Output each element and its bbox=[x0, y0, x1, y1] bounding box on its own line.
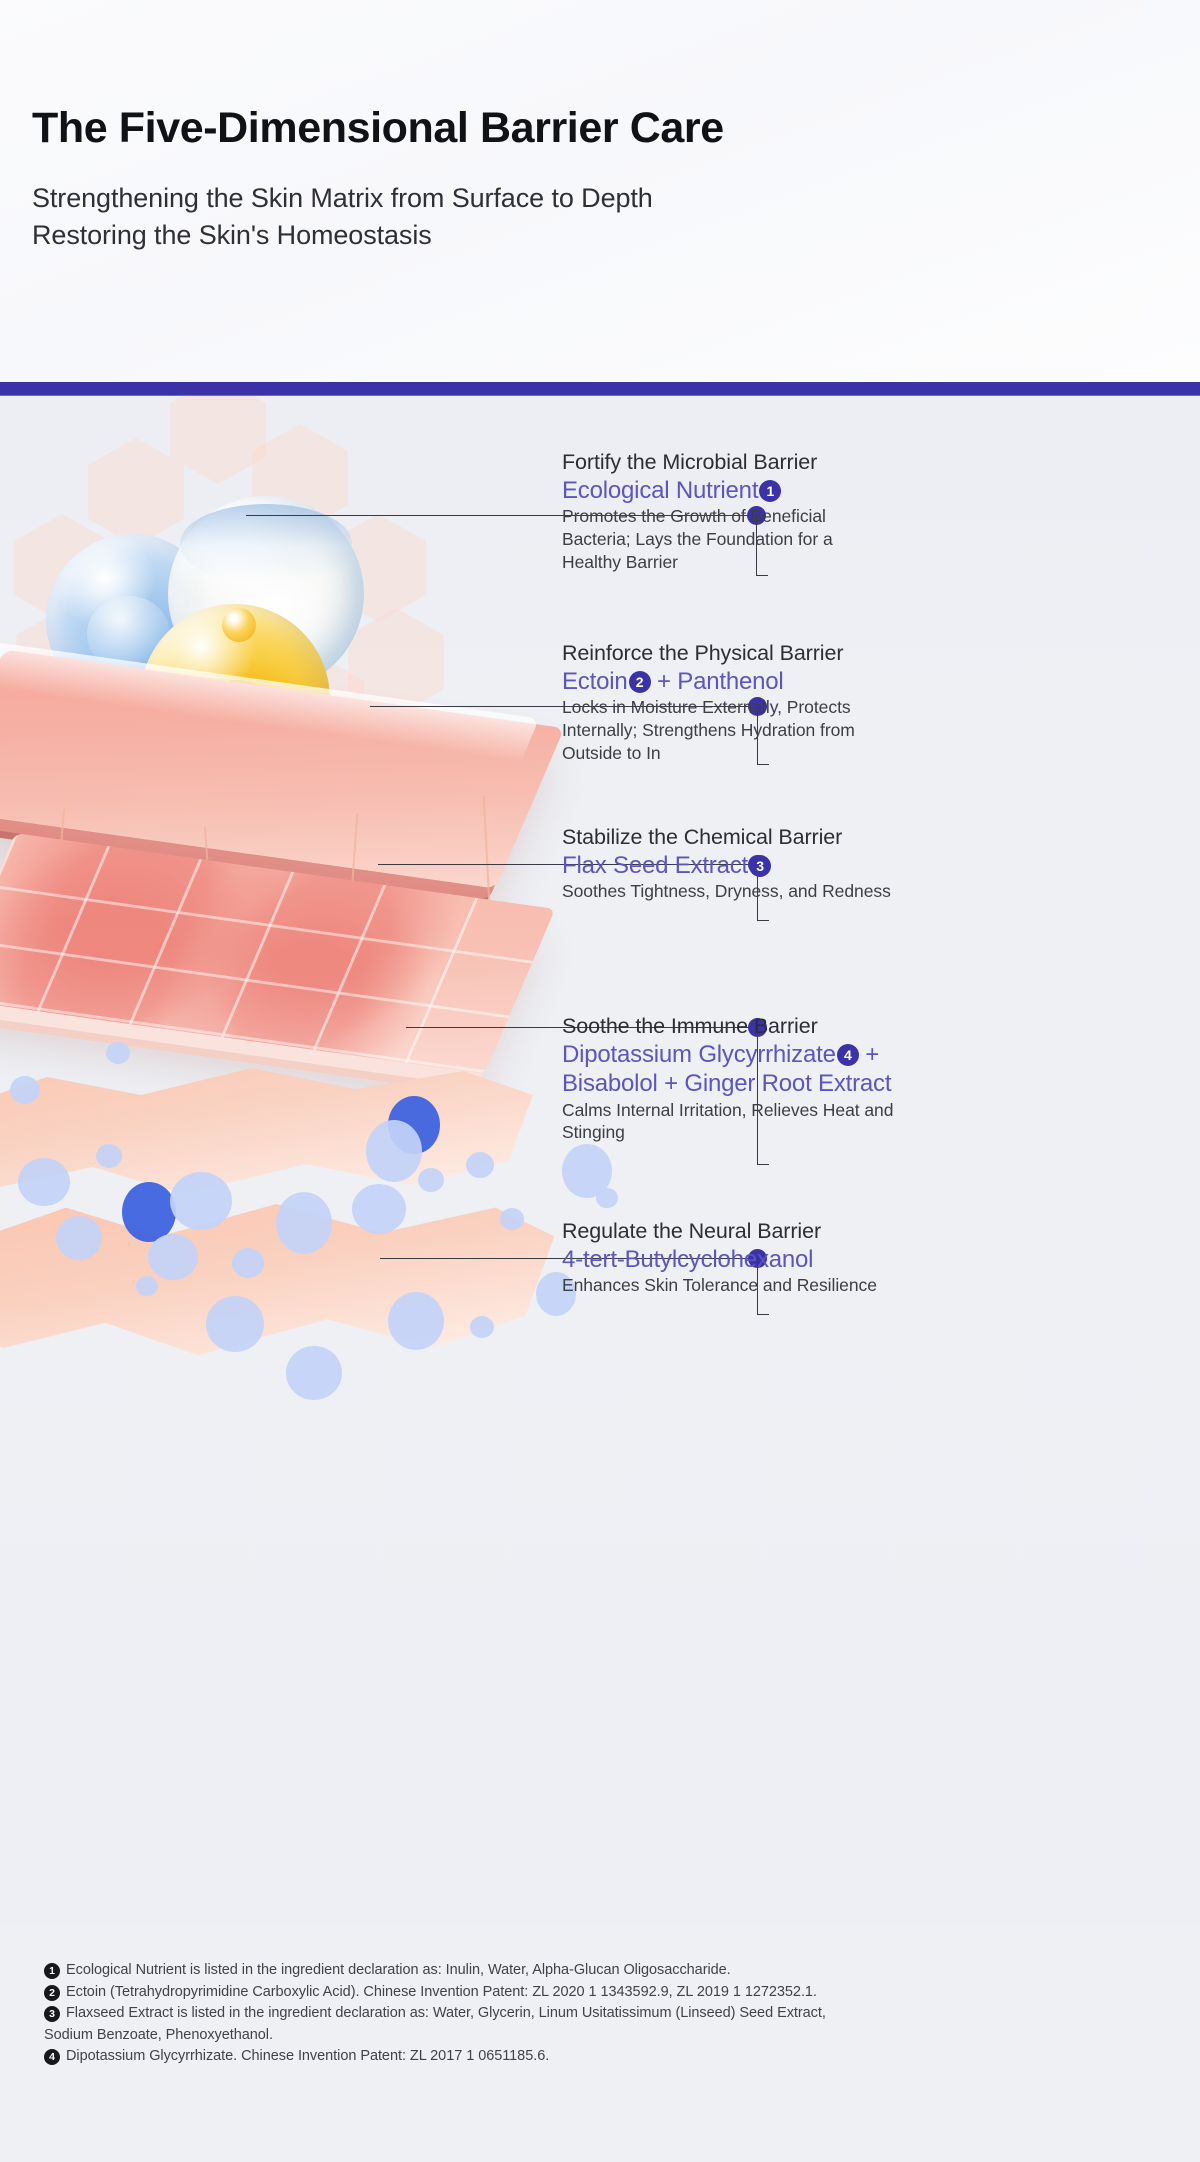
immune-cell bbox=[170, 1172, 232, 1230]
footnote-badge-1: 1 bbox=[759, 480, 781, 502]
footnote-row: 2 Ectoin (Tetrahydropyrimidine Carboxyli… bbox=[44, 1982, 1156, 2003]
footnote-row: 3 Flaxseed Extract is listed in the ingr… bbox=[44, 2003, 1156, 2024]
immune-cell bbox=[500, 1208, 524, 1230]
footnote-number: 1 bbox=[44, 1963, 60, 1979]
callout-ingredient: Dipotassium Glycyrrhizate4 + Bisabolol +… bbox=[562, 1040, 912, 1099]
illustration-stage: Fortify the Microbial Barrier Ecological… bbox=[0, 396, 1200, 1926]
footnote-row: 4 Dipotassium Glycyrrhizate. Chinese Inv… bbox=[44, 2046, 1156, 2067]
callout-heading: Soothe the Immune Barrier bbox=[562, 1013, 912, 1040]
immune-cell bbox=[136, 1276, 158, 1296]
footnote-row-continuation: Sodium Benzoate, Phenoxyethanol. bbox=[44, 2025, 1156, 2046]
infographic-page: The Five-Dimensional Barrier Care Streng… bbox=[0, 0, 1200, 2162]
callout-ingredient: Ecological Nutrient1 bbox=[562, 476, 892, 505]
hexagon-shape bbox=[88, 438, 184, 546]
footnote-text: Ectoin (Tetrahydropyrimidine Carboxylic … bbox=[66, 1982, 817, 2003]
callout-description: Soothes Tightness, Dryness, and Redness bbox=[562, 880, 902, 903]
callout-text-group: Regulate the Neural Barrier 4-tert-Butyl… bbox=[562, 1218, 902, 1297]
immune-cell bbox=[10, 1076, 40, 1104]
ingredient-name: Dipotassium Glycyrrhizate bbox=[562, 1041, 836, 1068]
immune-cell bbox=[466, 1152, 494, 1178]
leader-bracket-foot bbox=[757, 1164, 769, 1165]
leader-bracket-foot bbox=[756, 575, 768, 576]
immune-cell bbox=[596, 1188, 618, 1208]
hypodermis-wave-upper bbox=[0, 1056, 547, 1206]
immune-cell bbox=[56, 1216, 102, 1260]
callout-heading: Fortify the Microbial Barrier bbox=[562, 449, 892, 476]
callout-description: Calms Internal Irritation, Relieves Heat… bbox=[562, 1099, 912, 1145]
immune-cell bbox=[276, 1192, 332, 1254]
footnote-number: 3 bbox=[44, 2006, 60, 2022]
immune-cell-active bbox=[122, 1182, 176, 1242]
immune-cell bbox=[96, 1144, 122, 1168]
immune-cell bbox=[206, 1296, 264, 1352]
callout-text-group: Fortify the Microbial Barrier Ecological… bbox=[562, 449, 892, 574]
callout-ingredient: Flax Seed Extract3 bbox=[562, 851, 902, 880]
footnote-text: Sodium Benzoate, Phenoxyethanol. bbox=[44, 2025, 273, 2046]
immune-cell bbox=[470, 1316, 494, 1338]
footnote-badge-3: 3 bbox=[749, 855, 771, 877]
footnote-number: 2 bbox=[44, 1985, 60, 2001]
callout-ingredient: 4-tert-Butylcyclohexanol bbox=[562, 1245, 902, 1274]
callout-heading: Reinforce the Physical Barrier bbox=[562, 640, 904, 667]
callout-text-group: Soothe the Immune Barrier Dipotassium Gl… bbox=[562, 1013, 912, 1144]
callout-description: Promotes the Growth of Beneficial Bacter… bbox=[562, 505, 892, 573]
callout-heading: Stabilize the Chemical Barrier bbox=[562, 824, 902, 851]
footnote-text: Ecological Nutrient is listed in the ing… bbox=[66, 1960, 731, 1981]
footnote-text: Flaxseed Extract is listed in the ingred… bbox=[66, 2003, 826, 2024]
ingredient-name: Ectoin bbox=[562, 668, 628, 695]
callout-heading: Regulate the Neural Barrier bbox=[562, 1218, 902, 1245]
footnote-badge-2: 2 bbox=[629, 671, 651, 693]
immune-cell bbox=[388, 1292, 444, 1350]
immune-cell bbox=[286, 1346, 342, 1400]
immune-cell bbox=[352, 1184, 406, 1234]
footnote-number: 4 bbox=[44, 2049, 60, 2065]
header-divider bbox=[0, 382, 1200, 396]
footnote-badge-4: 4 bbox=[837, 1044, 859, 1066]
immune-cell bbox=[232, 1248, 264, 1278]
ingredient-name: Flax Seed Extract bbox=[562, 852, 748, 879]
page-title: The Five-Dimensional Barrier Care bbox=[32, 104, 724, 153]
hexagon-shape bbox=[170, 396, 266, 484]
ingredient-name: Ecological Nutrient bbox=[562, 477, 758, 504]
callout-text-group: Stabilize the Chemical Barrier Flax Seed… bbox=[562, 824, 902, 903]
immune-cell bbox=[106, 1042, 130, 1064]
immune-cell bbox=[148, 1234, 198, 1280]
footnote-row: 1 Ecological Nutrient is listed in the i… bbox=[44, 1960, 1156, 1981]
callout-text-group: Reinforce the Physical Barrier Ectoin2 +… bbox=[562, 640, 904, 765]
ingredient-name: 4-tert-Butylcyclohexanol bbox=[562, 1246, 813, 1273]
footnotes-section: 1 Ecological Nutrient is listed in the i… bbox=[0, 1926, 1200, 2162]
leader-bracket-foot bbox=[757, 1314, 769, 1315]
header-section: The Five-Dimensional Barrier Care Streng… bbox=[0, 0, 1200, 382]
gold-droplet bbox=[222, 608, 256, 642]
subtitle-line-2: Restoring the Skin's Homeostasis bbox=[32, 217, 653, 254]
callout-ingredient: Ectoin2 + Panthenol bbox=[562, 667, 904, 696]
ingredient-suffix: + Panthenol bbox=[651, 668, 784, 695]
immune-cell bbox=[418, 1168, 444, 1192]
callout-description: Enhances Skin Tolerance and Resilience bbox=[562, 1274, 902, 1297]
skin-layers-illustration bbox=[0, 396, 760, 1926]
immune-cell bbox=[18, 1158, 70, 1206]
subtitle-line-1: Strengthening the Skin Matrix from Surfa… bbox=[32, 180, 653, 217]
footnote-text: Dipotassium Glycyrrhizate. Chinese Inven… bbox=[66, 2046, 549, 2067]
page-subtitle: Strengthening the Skin Matrix from Surfa… bbox=[32, 180, 653, 253]
immune-cell bbox=[366, 1120, 422, 1182]
callout-description: Locks in Moisture Externally, Protects I… bbox=[562, 696, 904, 764]
leader-bracket-foot bbox=[757, 920, 769, 921]
